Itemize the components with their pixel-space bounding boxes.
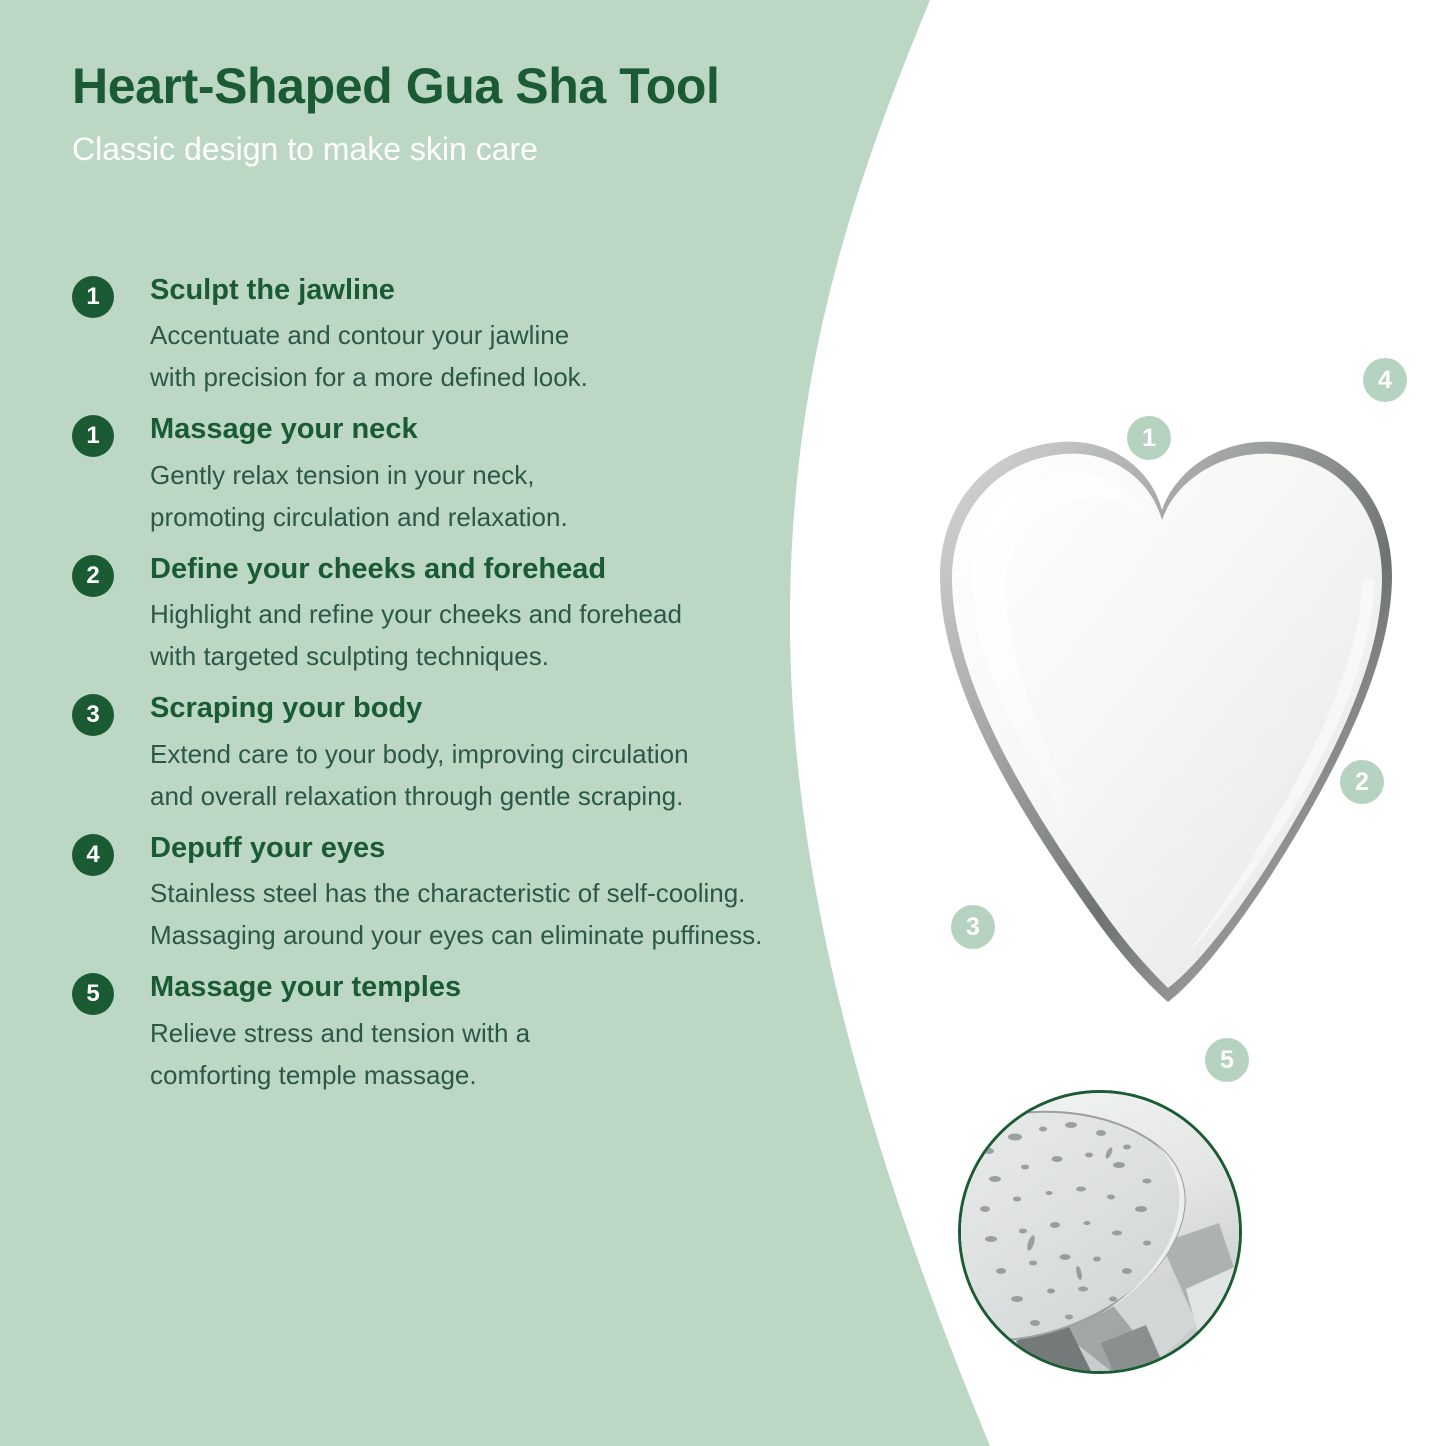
product-marker-3: 3 (951, 905, 995, 949)
benefit-body: Sculpt the jawline Accentuate and contou… (150, 272, 922, 398)
list-item: 5 Massage your temples Relieve stress an… (72, 969, 922, 1095)
benefit-title: Massage your temples (150, 969, 922, 1005)
benefit-description-line: and overall relaxation through gentle sc… (150, 775, 922, 817)
benefit-title: Massage your neck (150, 411, 922, 447)
infographic-page: Heart-Shaped Gua Sha Tool Classic design… (0, 0, 1445, 1446)
benefit-description-line: Stainless steel has the characteristic o… (150, 872, 922, 914)
benefit-description-line: Accentuate and contour your jawline (150, 314, 922, 356)
list-item: 1 Massage your neck Gently relax tension… (72, 411, 922, 537)
product-marker-5: 5 (1205, 1038, 1249, 1082)
benefit-description-line: Gently relax tension in your neck, (150, 454, 922, 496)
benefit-description-line: Relieve stress and tension with a (150, 1012, 922, 1054)
benefit-description: Accentuate and contour your jawline with… (150, 314, 922, 398)
benefit-body: Massage your neck Gently relax tension i… (150, 411, 922, 537)
benefit-description-line: Extend care to your body, improving circ… (150, 733, 922, 775)
benefit-title: Depuff your eyes (150, 830, 922, 866)
benefit-title: Define your cheeks and forehead (150, 551, 922, 587)
benefit-number-badge: 3 (72, 694, 114, 736)
benefit-description: Extend care to your body, improving circ… (150, 733, 922, 817)
benefit-description: Highlight and refine your cheeks and for… (150, 593, 922, 677)
benefit-number-badge: 2 (72, 555, 114, 597)
benefit-title: Sculpt the jawline (150, 272, 922, 308)
page-title: Heart-Shaped Gua Sha Tool (72, 58, 892, 114)
product-marker-2: 2 (1340, 760, 1384, 804)
benefit-description: Stainless steel has the characteristic o… (150, 872, 922, 956)
list-item: 2 Define your cheeks and forehead Highli… (72, 551, 922, 677)
benefit-description: Relieve stress and tension with a comfor… (150, 1012, 922, 1096)
benefit-number-badge: 1 (72, 276, 114, 318)
product-marker-4: 4 (1363, 358, 1407, 402)
list-item: 4 Depuff your eyes Stainless steel has t… (72, 830, 922, 956)
benefit-body: Depuff your eyes Stainless steel has the… (150, 830, 922, 956)
benefit-description-line: Massaging around your eyes can eliminate… (150, 914, 922, 956)
benefit-body: Define your cheeks and forehead Highligh… (150, 551, 922, 677)
ice-inset-photo (958, 1090, 1242, 1374)
benefit-description-line: with precision for a more defined look. (150, 356, 922, 398)
benefits-list: 1 Sculpt the jawline Accentuate and cont… (72, 272, 922, 1109)
benefit-body: Scraping your body Extend care to your b… (150, 690, 922, 816)
list-item: 1 Sculpt the jawline Accentuate and cont… (72, 272, 922, 398)
benefit-description-line: promoting circulation and relaxation. (150, 496, 922, 538)
benefit-body: Massage your temples Relieve stress and … (150, 969, 922, 1095)
benefit-number-badge: 1 (72, 415, 114, 457)
page-subtitle: Classic design to make skin care (72, 130, 892, 168)
header: Heart-Shaped Gua Sha Tool Classic design… (72, 58, 892, 168)
benefit-description-line: with targeted sculpting techniques. (150, 635, 922, 677)
benefit-description-line: comforting temple massage. (150, 1054, 922, 1096)
benefit-number-badge: 4 (72, 834, 114, 876)
benefit-description-line: Highlight and refine your cheeks and for… (150, 593, 922, 635)
benefit-number-badge: 5 (72, 973, 114, 1015)
product-marker-1: 1 (1127, 416, 1171, 460)
list-item: 3 Scraping your body Extend care to your… (72, 690, 922, 816)
benefit-description: Gently relax tension in your neck, promo… (150, 454, 922, 538)
benefit-title: Scraping your body (150, 690, 922, 726)
